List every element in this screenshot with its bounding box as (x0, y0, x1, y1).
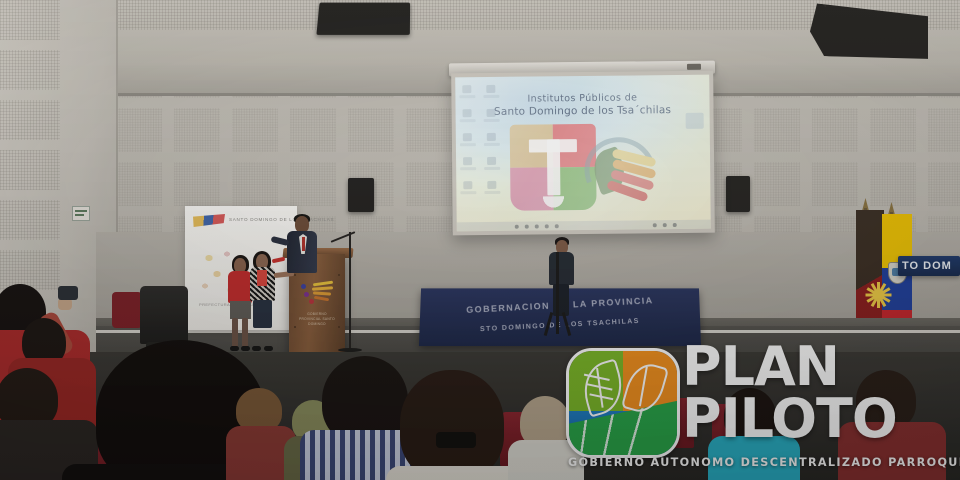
microphone-stand (349, 232, 351, 350)
wall-sign-text: TO DOM (898, 260, 952, 272)
slide-title-block: Institutos Públicos de Santo Domingo de … (455, 92, 709, 119)
stage-side-seat (112, 292, 142, 328)
plan-piloto-logo-icon (566, 348, 680, 458)
slide-title-line2: Santo Domingo de los Tsa´chilas (455, 103, 709, 118)
plan-piloto-watermark: PLAN PILOTO GOBIERNO AUTONOMO DESCENTRAL… (566, 344, 960, 476)
watermark-line-plan: PLAN (682, 342, 960, 392)
wall-speaker-mid2-icon (726, 176, 750, 212)
watermark-line-piloto: PILOTO (682, 394, 960, 444)
desktop-taskbar (457, 220, 711, 232)
ceiling-speaker-left-icon (316, 3, 410, 35)
wall-sign-santo-domingo: TO DOM (898, 256, 960, 276)
podium-subtext: GOBIERNO PROVINCIAL SANTO DOMINGO (296, 312, 338, 326)
stage-office-chair (140, 286, 188, 344)
stage-banner-line2: STO DOMINGO DE LOS TSACHILAS (420, 315, 701, 337)
watermark-tagline: GOBIERNO AUTONOMO DESCENTRALIZADO PARROQ… (568, 456, 960, 469)
backdrop-banner-text: SANTO DOMINGO DE LOS TSACHILAS (229, 217, 334, 222)
provincial-sun-emblem-icon (866, 282, 892, 308)
backdrop-flag-icon (193, 214, 225, 227)
projection-screen: Institutos Públicos de Santo Domingo de … (455, 75, 711, 232)
wall-notice-sign (72, 206, 90, 221)
projection-screen-frame: Institutos Públicos de Santo Domingo de … (451, 71, 715, 236)
left-wall-panels (0, 0, 60, 300)
wall-speaker-mid-icon (348, 178, 374, 212)
plan-piloto-wordmark: PLAN PILOTO (682, 342, 960, 443)
screenshot-root: Institutos Públicos de Santo Domingo de … (0, 0, 960, 480)
camera-tripod (556, 252, 559, 334)
podium-emblem-icon (301, 280, 335, 306)
leaf-ring-logo-icon (584, 137, 657, 206)
